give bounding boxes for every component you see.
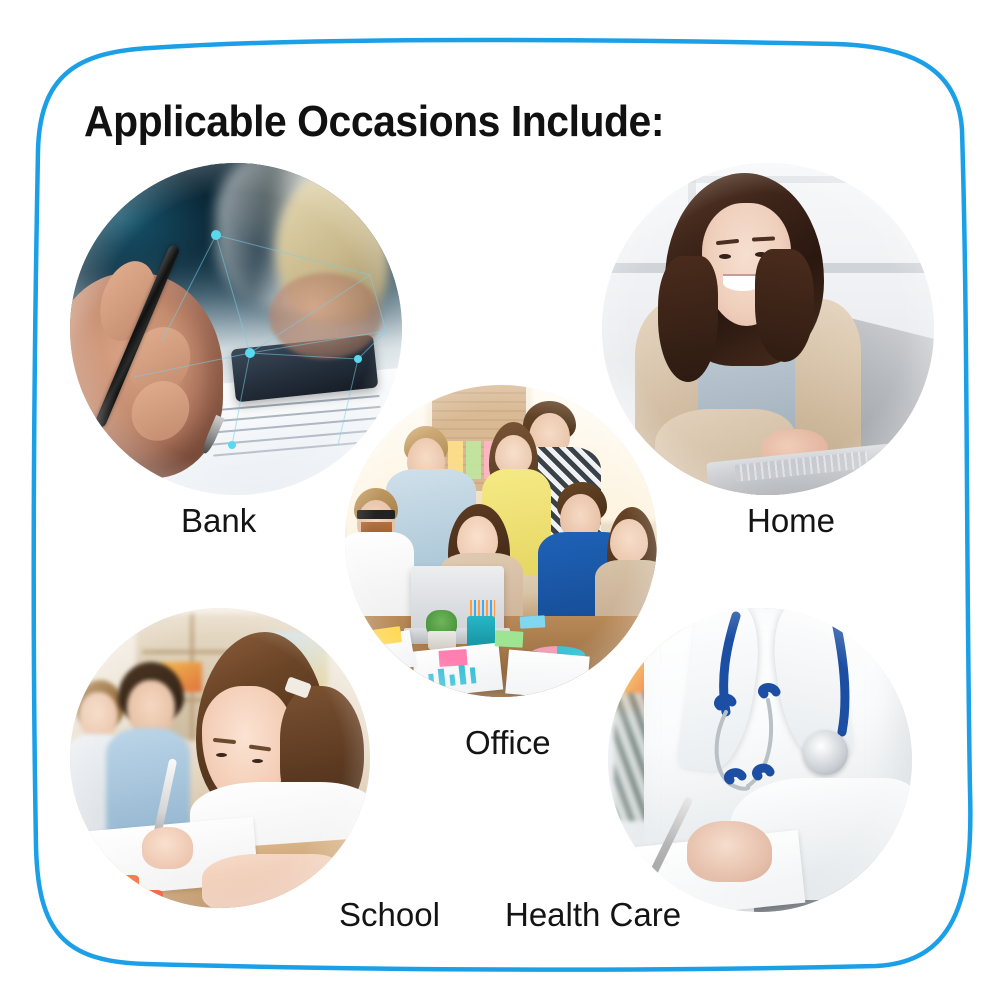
page-title: Applicable Occasions Include: xyxy=(84,97,664,147)
school-child-left-face xyxy=(79,692,118,740)
occasion-label-home: Home xyxy=(747,502,835,540)
school-scene xyxy=(70,608,370,908)
office-document-paper xyxy=(505,650,590,697)
occasion-image-school xyxy=(70,608,370,908)
school-foam-letter-green xyxy=(79,854,103,869)
school-girl-hand xyxy=(142,827,193,869)
occasion-label-health-care: Health Care xyxy=(505,896,681,934)
home-hair-left-strand xyxy=(658,256,718,382)
office-sticky-green xyxy=(494,631,523,648)
occasion-label-office: Office xyxy=(465,724,551,762)
occasion-label-bank: Bank xyxy=(181,502,256,540)
health-care-stethoscope-chestpiece xyxy=(803,730,849,776)
occasion-image-office xyxy=(345,385,657,697)
occasion-label-school: School xyxy=(339,896,440,934)
school-foam-letter-red xyxy=(133,890,163,908)
office-person-right-head xyxy=(610,519,647,563)
office-glasses-icon xyxy=(357,510,394,519)
school-child-boy-body xyxy=(106,728,190,836)
health-care-hand xyxy=(687,821,772,882)
school-foam-letter-yellow xyxy=(88,869,112,884)
office-scene xyxy=(345,385,657,697)
home-hair-right-strand xyxy=(755,249,815,362)
office-sticky-blue xyxy=(519,615,545,629)
office-sticky-pink xyxy=(438,649,467,667)
school-girl-arm xyxy=(202,854,340,908)
